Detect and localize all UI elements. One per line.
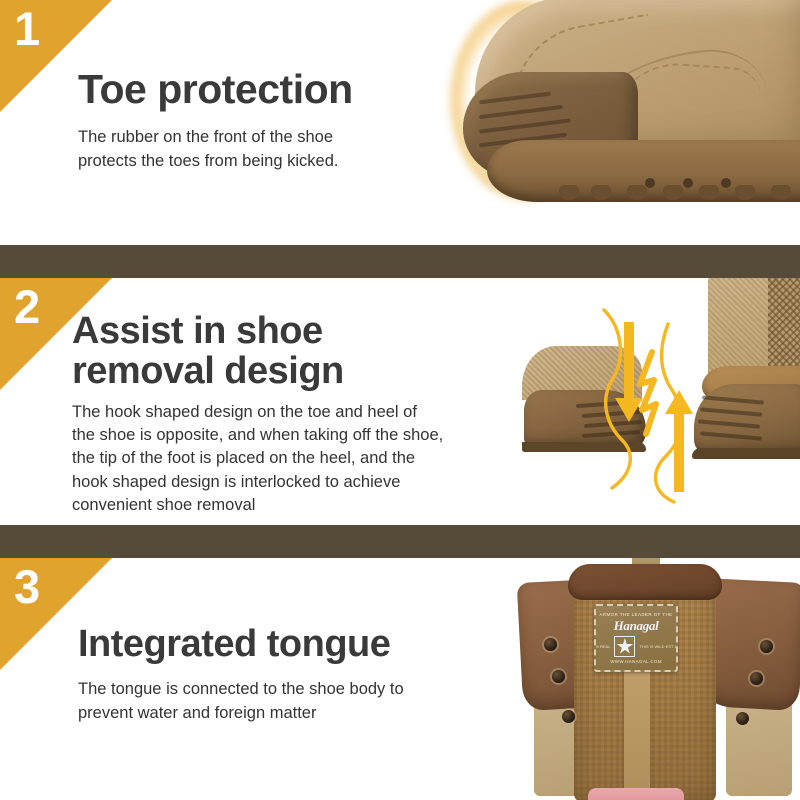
outsole-lug <box>591 185 611 200</box>
feature-description: The hook shaped design on the toe and he… <box>72 401 502 518</box>
section-number-badge-2: 2 <box>0 278 112 390</box>
section-number-badge-3: 3 <box>0 558 112 670</box>
outsole-lug <box>627 185 647 200</box>
outsole-lug <box>699 185 719 200</box>
shoe-removal-photo <box>500 278 800 525</box>
direction-arrows-graphic <box>596 306 716 506</box>
sock-liner <box>588 788 684 800</box>
interlock-zigzag <box>640 352 656 434</box>
brand-label-top-text: ARMOR THE LEADER OF THE <box>599 612 672 617</box>
lace-eyelet <box>544 638 557 651</box>
feature-text-1: Toe protection The rubber on the front o… <box>78 68 438 173</box>
toe-cap-rib <box>479 92 551 105</box>
feature-title: Integrated tongue <box>78 624 478 664</box>
boot-mesh-panel <box>768 278 800 372</box>
boot-toe-photo <box>415 0 800 245</box>
feature-section-1: 1 Toe protection The rubber on the front… <box>0 0 800 245</box>
feature-text-3: Integrated tongue The tongue is connecte… <box>78 624 478 725</box>
feature-title: Assist in shoe removal design <box>72 311 502 392</box>
outsole-tread-hole <box>683 178 693 188</box>
brand-label-left-text: 100% REAL <box>594 644 610 649</box>
outsole-tread-hole <box>645 178 655 188</box>
outsole-lug <box>771 185 791 200</box>
outsole <box>487 140 800 202</box>
brand-emblem-box <box>614 636 635 657</box>
toe-cap-rib <box>479 118 571 133</box>
lace-eyelet <box>760 640 773 653</box>
section-divider-bar <box>0 245 800 278</box>
feature-description: The rubber on the front of the shoe prot… <box>78 126 438 173</box>
toe-cap-rib <box>479 105 563 119</box>
brand-name: Hanagal <box>614 618 659 634</box>
section-number: 2 <box>14 282 39 331</box>
brand-label-website: WWW.HANAGAL.COM <box>610 659 662 664</box>
outsole-lug <box>663 185 683 200</box>
feature-section-2: 2 Assist in shoe removal design The hook… <box>0 278 800 525</box>
brand-label: ARMOR THE LEADER OF THE Hanagal 100% REA… <box>594 604 678 672</box>
section-number-badge-1: 1 <box>0 0 112 112</box>
section-number: 3 <box>14 562 39 611</box>
section-divider-bar <box>0 525 800 558</box>
feature-description: The tongue is connected to the shoe body… <box>78 678 478 725</box>
feature-title: Toe protection <box>78 68 438 111</box>
product-feature-infographic: 1 Toe protection The rubber on the front… <box>0 0 800 800</box>
up-arrow <box>665 390 693 492</box>
section-number: 1 <box>14 4 39 53</box>
brand-label-right-text: THIS IS WILD EST 1998 <box>639 644 678 649</box>
boot-tongue-photo: ARMOR THE LEADER OF THE Hanagal 100% REA… <box>528 558 800 800</box>
brand-label-middle-row: 100% REAL THIS IS WILD EST 1998 <box>594 636 678 657</box>
star-icon <box>616 638 633 655</box>
lace-eyelet <box>736 712 749 725</box>
feature-text-2: Assist in shoe removal design The hook s… <box>72 311 502 518</box>
lace-eyelet <box>750 672 763 685</box>
lace-eyelet <box>562 710 575 723</box>
feature-section-3: ARMOR THE LEADER OF THE Hanagal 100% REA… <box>0 558 800 800</box>
lace-eyelet <box>552 670 565 683</box>
outsole-lug <box>735 185 755 200</box>
outsole-lug <box>559 185 579 200</box>
outsole-tread-hole <box>721 178 731 188</box>
tongue-top-trim <box>568 564 722 600</box>
